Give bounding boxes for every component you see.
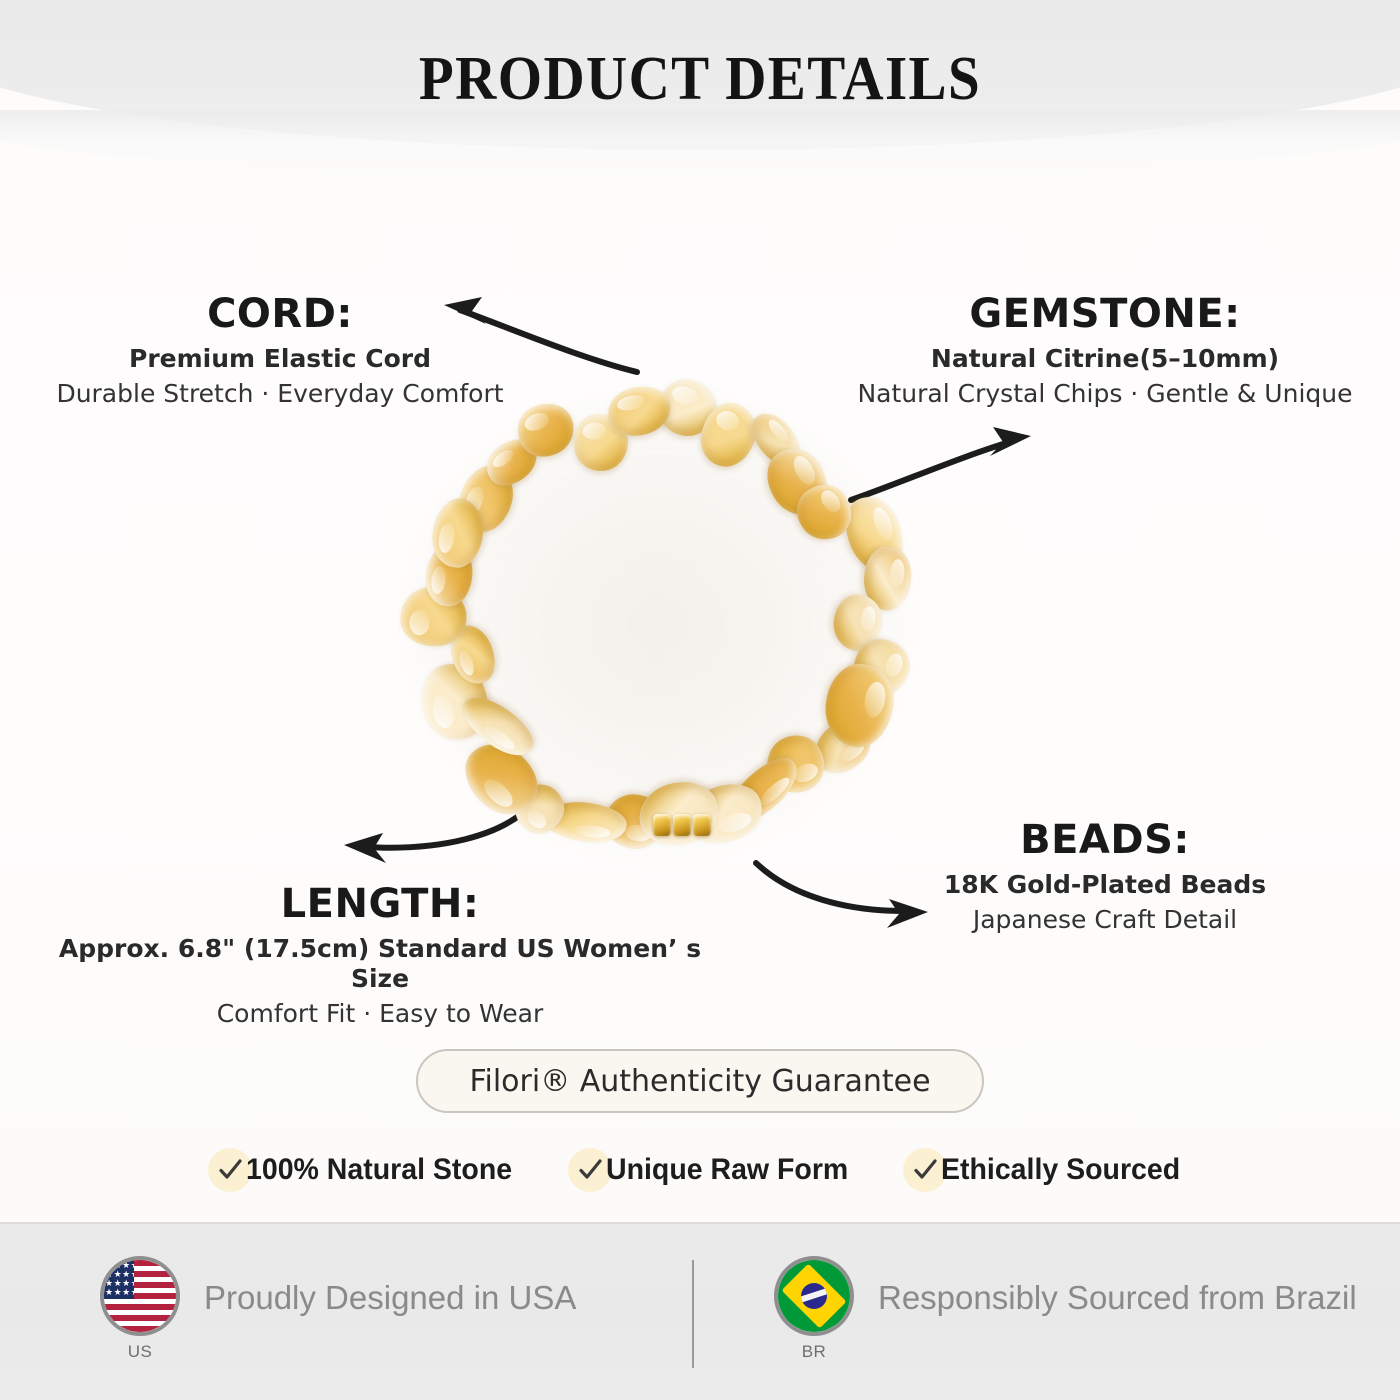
feature-list: 100% Natural Stone Unique Raw Form Ethic… xyxy=(0,1148,1400,1192)
feature-label: 100% Natural Stone xyxy=(246,1153,512,1187)
authenticity-guarantee-badge: Filori® Authenticity Guarantee xyxy=(416,1049,984,1113)
callout-gemstone-title: GEMSTONE: xyxy=(845,292,1365,336)
callout-beads-description: Japanese Craft Detail xyxy=(880,905,1330,935)
gold-plated-bead xyxy=(673,814,691,836)
check-icon xyxy=(208,1148,252,1192)
callout-cord: CORD: Premium Elastic Cord Durable Stret… xyxy=(20,292,540,409)
callout-cord-subtitle: Premium Elastic Cord xyxy=(20,344,540,374)
gold-plated-bead xyxy=(693,814,711,836)
callout-cord-title: CORD: xyxy=(20,292,540,336)
callout-length-description: Comfort Fit · Easy to Wear xyxy=(40,999,720,1029)
gold-plated-bead xyxy=(653,814,671,836)
footer-divider xyxy=(692,1260,694,1368)
callout-gemstone-description: Natural Crystal Chips · Gentle & Unique xyxy=(845,379,1365,409)
feature-label: Ethically Sourced xyxy=(941,1153,1180,1187)
callout-gemstone-subtitle: Natural Citrine(5–10mm) xyxy=(845,344,1365,374)
callout-length: LENGTH: Approx. 6.8" (17.5cm) Standard U… xyxy=(40,882,720,1029)
arrow-right-icon-gemstone xyxy=(845,415,1045,505)
product-details-infographic: PRODUCT DETAILS CORD: Premium Elastic Co… xyxy=(0,0,1400,1400)
callout-gemstone: GEMSTONE: Natural Citrine(5–10mm) Natura… xyxy=(845,292,1365,409)
footer-item-br: BR Responsibly Sourced from Brazil xyxy=(726,1224,1400,1362)
footer-band: ★★★★★★★★★★★★★★★★ US Proudly Designed in … xyxy=(0,1222,1400,1400)
authenticity-guarantee-label: Filori® Authenticity Guarantee xyxy=(469,1064,930,1099)
br-flag-band xyxy=(801,1286,827,1304)
callout-length-subtitle: Approx. 6.8" (17.5cm) Standard US Women’… xyxy=(40,934,720,994)
br-flag-icon xyxy=(774,1256,854,1336)
footer-text-br: Responsibly Sourced from Brazil xyxy=(878,1279,1357,1317)
feature-item: 100% Natural Stone xyxy=(208,1148,526,1192)
br-flag-globe xyxy=(801,1283,827,1309)
callout-length-title: LENGTH: xyxy=(40,882,720,926)
br-flag-wrap: BR xyxy=(772,1256,856,1362)
callout-cord-description: Durable Stretch · Everyday Comfort xyxy=(20,379,540,409)
br-flag-code: BR xyxy=(802,1342,827,1362)
br-flag-field xyxy=(778,1260,850,1332)
us-flag-wrap: ★★★★★★★★★★★★★★★★ US xyxy=(98,1256,182,1362)
feature-label: Unique Raw Form xyxy=(606,1153,848,1187)
us-flag-icon: ★★★★★★★★★★★★★★★★ xyxy=(100,1256,180,1336)
feature-item: Unique Raw Form xyxy=(568,1148,861,1192)
footer-item-us: ★★★★★★★★★★★★★★★★ US Proudly Designed in … xyxy=(0,1224,726,1362)
callout-beads-title: BEADS: xyxy=(880,818,1330,862)
page-title: PRODUCT DETAILS xyxy=(56,44,1344,115)
footer-text-us: Proudly Designed in USA xyxy=(204,1279,576,1317)
callout-beads-subtitle: 18K Gold-Plated Beads xyxy=(880,870,1330,900)
header-band-fade xyxy=(0,110,1400,180)
us-flag-code: US xyxy=(128,1342,153,1362)
callout-beads: BEADS: 18K Gold-Plated Beads Japanese Cr… xyxy=(880,818,1330,935)
us-flag-canton: ★★★★★★★★★★★★★★★★ xyxy=(104,1260,134,1299)
feature-item: Ethically Sourced xyxy=(903,1148,1193,1192)
